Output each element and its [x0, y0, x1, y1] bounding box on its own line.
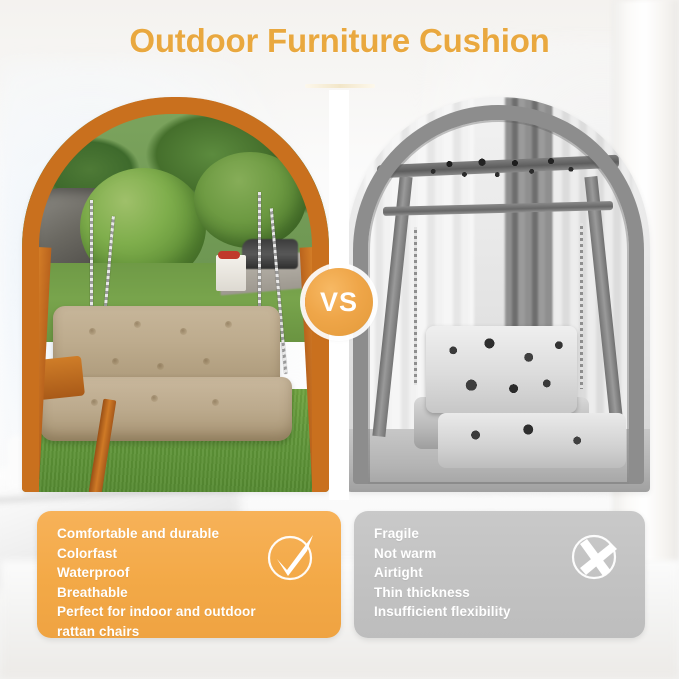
cross-circle-icon [567, 529, 623, 585]
list-item: Breathable [57, 583, 325, 603]
page-title: Outdoor Furniture Cushion [0, 22, 679, 60]
product-comparison-infographic: Outdoor Furniture Cushion [0, 0, 679, 679]
left-product-photo [22, 97, 329, 492]
list-item: Perfect for indoor and outdoor rattan ch… [57, 602, 325, 641]
swing-wooden-arch-frame [22, 97, 329, 492]
cons-panel: Fragile Not warm Airtight Thin thickness… [354, 511, 645, 638]
title-divider [305, 84, 375, 88]
check-circle-icon [263, 529, 319, 585]
list-item: Thin thickness [374, 583, 629, 603]
pros-panel: Comfortable and durable Colorfast Waterp… [37, 511, 341, 638]
vs-badge: VS [305, 268, 373, 336]
right-product-photo [347, 97, 650, 492]
list-item: Insufficient flexibility [374, 602, 629, 622]
metal-swing-arch-frame [353, 105, 644, 484]
